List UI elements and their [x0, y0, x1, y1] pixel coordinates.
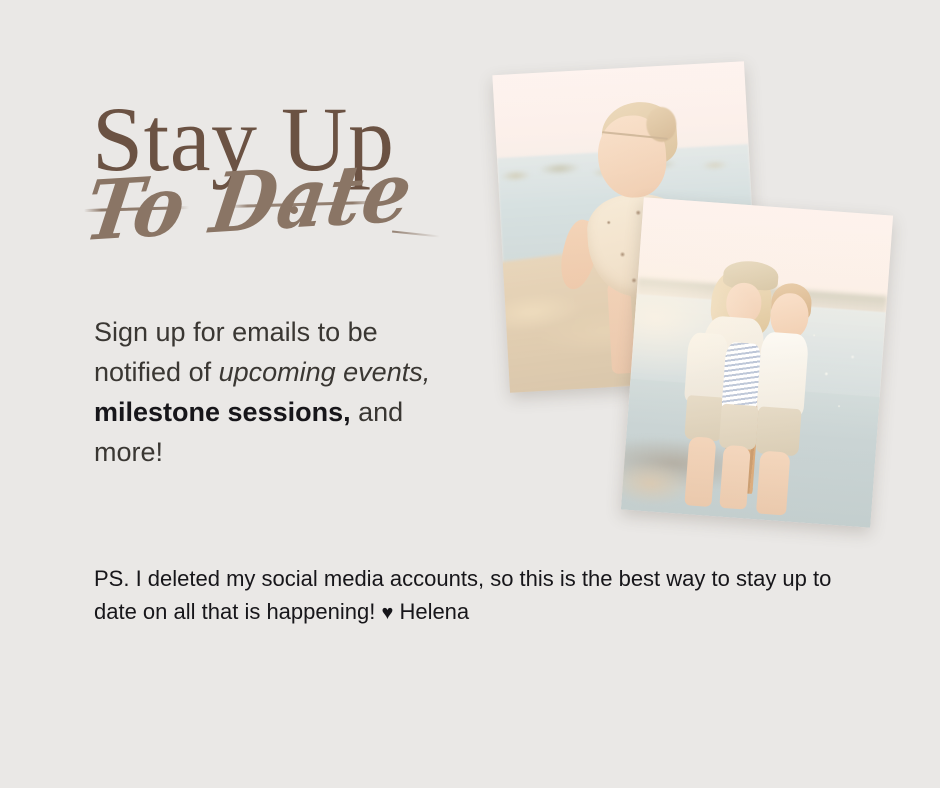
child-right-shorts — [755, 407, 801, 457]
child-left-legs — [684, 436, 716, 507]
signup-description: Sign up for emails to be notified of upc… — [94, 313, 434, 473]
child-middle-striped-top — [721, 341, 761, 412]
child-middle-shorts — [718, 404, 759, 450]
postscript-note: PS. I deleted my social media accounts, … — [94, 562, 834, 629]
body-text-bold: milestone sessions, — [94, 397, 351, 427]
heart-icon: ♥ — [381, 602, 393, 624]
newsletter-signup-graphic: Stay Up To Date Sign up for emails to be… — [0, 0, 940, 788]
child-right-top — [756, 331, 809, 416]
headline-block: Stay Up To Date — [92, 96, 492, 275]
family-photo-canvas — [621, 197, 893, 527]
child-right-legs — [756, 451, 791, 516]
headline-script-text: To Date — [80, 151, 418, 253]
child-middle-legs — [719, 445, 751, 509]
family-water-photo — [621, 197, 893, 527]
child-left-shorts — [684, 395, 725, 441]
body-text-italic: upcoming events, — [219, 357, 431, 387]
headline-script-block: To Date — [92, 179, 492, 275]
photo-sand-bank — [621, 458, 694, 508]
signature-name: Helena — [393, 599, 469, 624]
